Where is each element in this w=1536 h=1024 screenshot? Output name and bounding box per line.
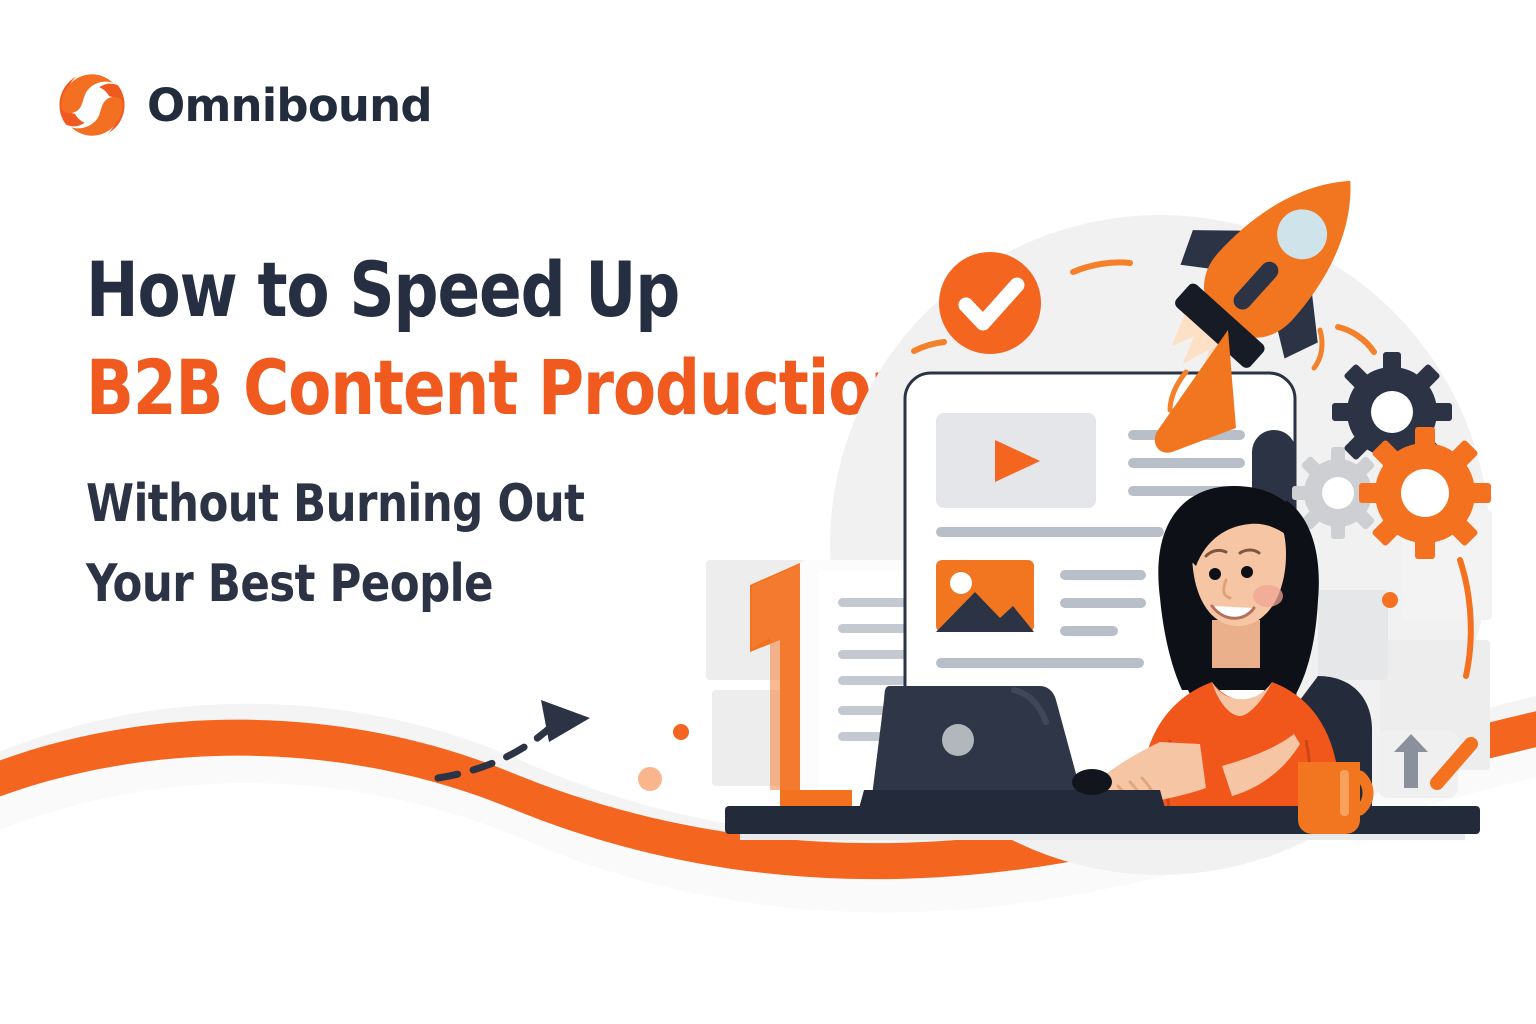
trackpad — [1072, 769, 1112, 795]
rocket-flame-inner — [1159, 314, 1232, 385]
rocket-trail — [1155, 330, 1236, 453]
accent-arc-1 — [1073, 262, 1130, 272]
check-icon — [966, 285, 1017, 323]
blush — [1253, 585, 1283, 607]
growth-line — [1437, 744, 1471, 783]
dashed-arrow — [438, 700, 590, 778]
coffee-mug — [1298, 762, 1368, 834]
wave-gray-back — [0, 690, 1536, 909]
video-thumbnail — [936, 413, 1096, 508]
laptop-screen — [872, 686, 1082, 796]
wave-orange — [0, 706, 1536, 879]
trail-wisp-1 — [1170, 372, 1186, 410]
accent-arc-2 — [914, 342, 944, 351]
rocket-body — [1185, 147, 1388, 357]
brand-name: Omnibound — [147, 79, 432, 132]
chair-back — [1300, 676, 1372, 812]
arm-right — [1222, 734, 1300, 796]
subheadline-line-1: Without Burning Out — [86, 478, 849, 530]
gear-gray — [1292, 447, 1384, 539]
omnibound-swirl-icon — [55, 68, 129, 142]
checkmark-badge — [939, 252, 1041, 354]
desk — [725, 806, 1480, 834]
marketing-banner: Omnibound How to Speed Up B2B Content Pr… — [0, 0, 1536, 1024]
brand-logo[interactable]: Omnibound — [55, 68, 432, 142]
rocket-window — [1267, 199, 1338, 270]
accent-dot-peach — [638, 767, 662, 791]
content-card — [905, 373, 1296, 803]
trail-wisp-3 — [1338, 327, 1374, 352]
background-circle — [830, 215, 1490, 875]
trail-wisp-2 — [1314, 330, 1322, 368]
text-lines-bottom — [1060, 570, 1146, 636]
laptop — [858, 686, 1166, 812]
accent-dot-orange — [673, 724, 689, 740]
wave-gray-front — [0, 724, 1536, 912]
desk-shadow — [740, 834, 1465, 840]
headline-block: How to Speed Up B2B Content Production W… — [86, 252, 906, 610]
rocket-band — [1173, 281, 1267, 370]
fingers — [1118, 778, 1154, 804]
accent-dot-right — [1382, 592, 1398, 608]
hand-left — [1052, 780, 1096, 810]
eye-left — [1209, 568, 1221, 580]
play-button — [995, 440, 1040, 482]
text-lines-top — [1128, 430, 1245, 496]
rocket-stripe — [1230, 258, 1282, 313]
shirt — [1140, 682, 1340, 812]
growth-card — [1378, 730, 1471, 798]
mug-handle — [1360, 776, 1368, 810]
arm-left — [1081, 742, 1206, 810]
subheadline-line-2: Your Best People — [86, 558, 849, 610]
rocket — [1074, 125, 1413, 475]
up-arrow-icon — [1394, 734, 1428, 788]
rocket-fin-right — [1256, 280, 1342, 368]
mug-highlight — [1340, 770, 1349, 816]
smile — [1212, 606, 1254, 618]
woman-character — [1052, 486, 1340, 812]
eye-right — [1241, 566, 1253, 578]
laptop-base — [858, 790, 1166, 812]
gear-dark — [1332, 352, 1452, 472]
headline-line-1: How to Speed Up — [86, 252, 840, 328]
headline-line-2: B2B Content Production — [86, 350, 840, 426]
rocket-fin-left — [1170, 203, 1256, 291]
neckline — [1212, 682, 1272, 716]
image-placeholder — [936, 560, 1034, 632]
gear-orange — [1359, 427, 1491, 559]
accent-arc-right — [1460, 560, 1471, 676]
text-line-wide — [936, 527, 1164, 537]
card-bookmark — [1252, 430, 1296, 570]
laptop-logo — [942, 724, 974, 756]
